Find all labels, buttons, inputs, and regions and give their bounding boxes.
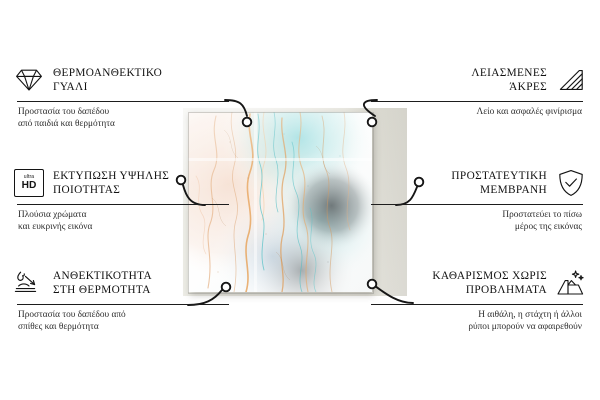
flame-heat-resistant-icon (14, 268, 44, 298)
feature-description: Πλούσια χρώματα και ευκρινής εικόνα (18, 210, 229, 233)
feature-divider (17, 304, 229, 305)
feature-divider (371, 304, 583, 305)
feature-title: ΛΕΙΑΣΜΕΝΕΣ ΆΚΡΕΣ (471, 66, 547, 95)
feature-divider (17, 101, 229, 102)
feature-title: ΠΡΟΣΤΑΤΕΥΤΙΚΗ ΜΕΜΒΡΑΝΗ (451, 169, 547, 198)
ultra-hd-main-label: HD (22, 181, 37, 191)
feature-heat-resistant-glass: ΘΕΡΜΟΑΝΘΕΚΤΙΚΟ ΓΥΑΛΙ Προστασία του δαπέδ… (14, 63, 229, 130)
feature-divider (371, 101, 583, 102)
feature-high-quality-print: ultra HD ΕΚΤΥΠΩΣΗ ΥΨΗΛΗΣ ΠΟΙΟΤΗΤΑΣ Πλούσ… (14, 166, 229, 233)
feature-description: Προστατεύει το πίσω μέρος της εικόνας (371, 210, 582, 233)
feature-divider (371, 204, 583, 205)
feature-header: ΑΝΘΕΚΤΙΚΟΤΗΤΑ ΣΤΗ ΘΕΡΜΟΤΗΤΑ (14, 266, 229, 300)
feature-header: ultra HD ΕΚΤΥΠΩΣΗ ΥΨΗΛΗΣ ΠΟΙΟΤΗΤΑΣ (14, 166, 229, 200)
feature-divider (17, 204, 229, 205)
feature-title: ΑΝΘΕΚΤΙΚΟΤΗΤΑ ΣΤΗ ΘΕΡΜΟΤΗΤΑ (53, 269, 152, 298)
feature-heat-durability: ΑΝΘΕΚΤΙΚΟΤΗΤΑ ΣΤΗ ΘΕΡΜΟΤΗΤΑ Προστασία το… (14, 266, 229, 333)
shield-check-icon (556, 168, 586, 198)
feature-protective-membrane: ΠΡΟΣΤΑΤΕΥΤΙΚΗ ΜΕΜΒΡΑΝΗ Προστατεύει το πί… (371, 166, 586, 233)
feature-title: ΘΕΡΜΟΑΝΘΕΚΤΙΚΟ ΓΥΑΛΙ (53, 66, 162, 95)
infographic-canvas: ΘΕΡΜΟΑΝΘΕΚΤΙΚΟ ΓΥΑΛΙ Προστασία του δαπέδ… (0, 0, 600, 400)
polished-edges-icon (556, 65, 586, 95)
feature-title: ΚΑΘΑΡΙΣΜΟΣ ΧΩΡΙΣ ΠΡΟΒΛΗΜΑΤΑ (432, 269, 547, 298)
ultra-hd-badge-icon: ultra HD (14, 168, 44, 198)
feature-header: ΚΑΘΑΡΙΣΜΟΣ ΧΩΡΙΣ ΠΡΟΒΛΗΜΑΤΑ (371, 266, 586, 300)
feature-header: ΘΕΡΜΟΑΝΘΕΚΤΙΚΟ ΓΥΑΛΙ (14, 63, 229, 97)
feature-description: Προστασία του δαπέδου από παιδιά και θερ… (18, 107, 229, 130)
feature-description: Λείο και ασφαλές φινίρισμα (371, 107, 582, 119)
feature-description: Η αιθάλη, η στάχτη ή άλλοι ρύποι μπορούν… (371, 310, 582, 333)
easy-clean-sparkle-icon (556, 268, 586, 298)
feature-header: ΠΡΟΣΤΑΤΕΥΤΙΚΗ ΜΕΜΒΡΑΝΗ (371, 166, 586, 200)
feature-polished-edges: ΛΕΙΑΣΜΕΝΕΣ ΆΚΡΕΣ Λείο και ασφαλές φινίρι… (371, 63, 586, 119)
diamond-icon (14, 65, 44, 95)
feature-description: Προστασία του δαπέδου από σπίθες και θερ… (18, 310, 229, 333)
feature-header: ΛΕΙΑΣΜΕΝΕΣ ΆΚΡΕΣ (371, 63, 586, 97)
feature-easy-cleaning: ΚΑΘΑΡΙΣΜΟΣ ΧΩΡΙΣ ΠΡΟΒΛΗΜΑΤΑ Η αιθάλη, η … (371, 266, 586, 333)
feature-title: ΕΚΤΥΠΩΣΗ ΥΨΗΛΗΣ ΠΟΙΟΤΗΤΑΣ (53, 169, 169, 198)
